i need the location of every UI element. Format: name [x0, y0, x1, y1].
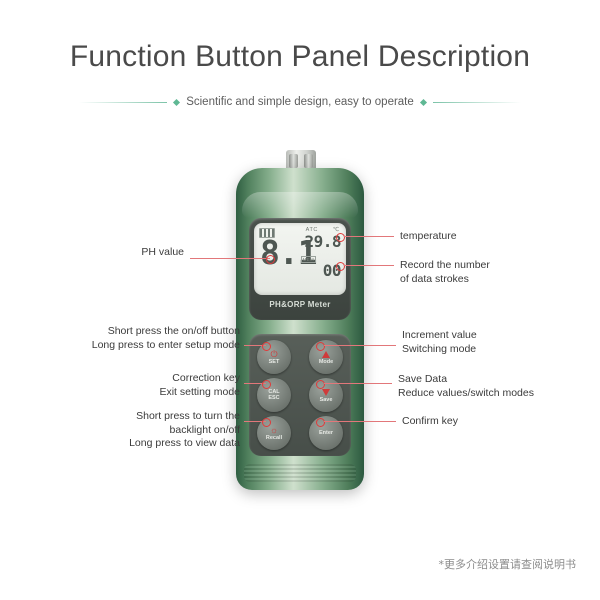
brand-label: PH&ORP Meter [249, 300, 351, 309]
leader-enter-button [324, 421, 396, 422]
leader-temperature [344, 236, 394, 237]
leader-ph-value [190, 258, 270, 259]
callout-recall-button: Short press to turn the backlight on/off… [50, 410, 240, 451]
save-button-label: Save [320, 397, 333, 403]
marker-recall-button [262, 418, 271, 427]
leader-save-button [324, 383, 392, 384]
leader-mode-button [324, 345, 396, 346]
callout-save-button: Save Data Reduce values/switch modes [398, 373, 598, 400]
subtitle-row: Scientific and simple design, easy to op… [0, 96, 600, 108]
marker-cal-button [262, 380, 271, 389]
screen-bezel: ATC ℃ 8.1 29.8 MEM 00 PH&ORP Meter [249, 218, 351, 320]
subtitle-rule-left [79, 102, 167, 103]
button-panel: ⏻ SET Mode CAL ESC Save ☼ Recall [249, 334, 351, 456]
marker-enter-button [316, 418, 325, 427]
callout-mode-button: Increment value Switching mode [402, 329, 582, 356]
power-icon: ⏻ [270, 349, 277, 359]
page-subtitle: Scientific and simple design, easy to op… [186, 96, 414, 108]
mem-label: MEM [301, 256, 316, 263]
callout-enter-button: Confirm key [402, 415, 582, 429]
callout-record-count: Record the number of data strokes [400, 259, 580, 286]
marker-set-button [262, 342, 271, 351]
esc-button-label: ESC [268, 395, 279, 401]
infographic-page: Function Button Panel Description Scient… [0, 0, 600, 600]
leader-record-count [344, 265, 394, 266]
page-title: Function Button Panel Description [0, 40, 600, 74]
marker-mode-button [316, 342, 325, 351]
marker-temperature [336, 233, 345, 242]
triangle-down-icon [322, 387, 330, 397]
set-button-label: SET [269, 359, 280, 365]
ph-meter-device: ATC ℃ 8.1 29.8 MEM 00 PH&ORP Meter ⏻ SET… [236, 150, 364, 490]
mode-button-label: Mode [319, 359, 333, 365]
enter-button-label: Enter [319, 430, 333, 436]
device-body: ATC ℃ 8.1 29.8 MEM 00 PH&ORP Meter ⏻ SET… [236, 168, 364, 490]
callout-set-button: Short press the on/off button Long press… [40, 325, 240, 352]
marker-ph-value [266, 255, 275, 264]
handle-grip [244, 464, 356, 482]
footnote: *更多介绍设置请查阅说明书 [439, 556, 577, 572]
callout-ph-value: PH value [100, 246, 184, 260]
subtitle-rule-right [433, 102, 521, 103]
marker-record-count [336, 262, 345, 271]
marker-save-button [316, 380, 325, 389]
backlight-icon: ☼ [270, 425, 278, 435]
callout-cal-button: Correction key Exit setting mode [60, 372, 240, 399]
subtitle-diamond-right-icon [420, 98, 427, 105]
subtitle-diamond-left-icon [173, 98, 180, 105]
callout-temperature: temperature [400, 230, 580, 244]
recall-button-label: Recall [266, 435, 282, 441]
body-highlight [242, 192, 358, 218]
triangle-up-icon [322, 349, 330, 359]
